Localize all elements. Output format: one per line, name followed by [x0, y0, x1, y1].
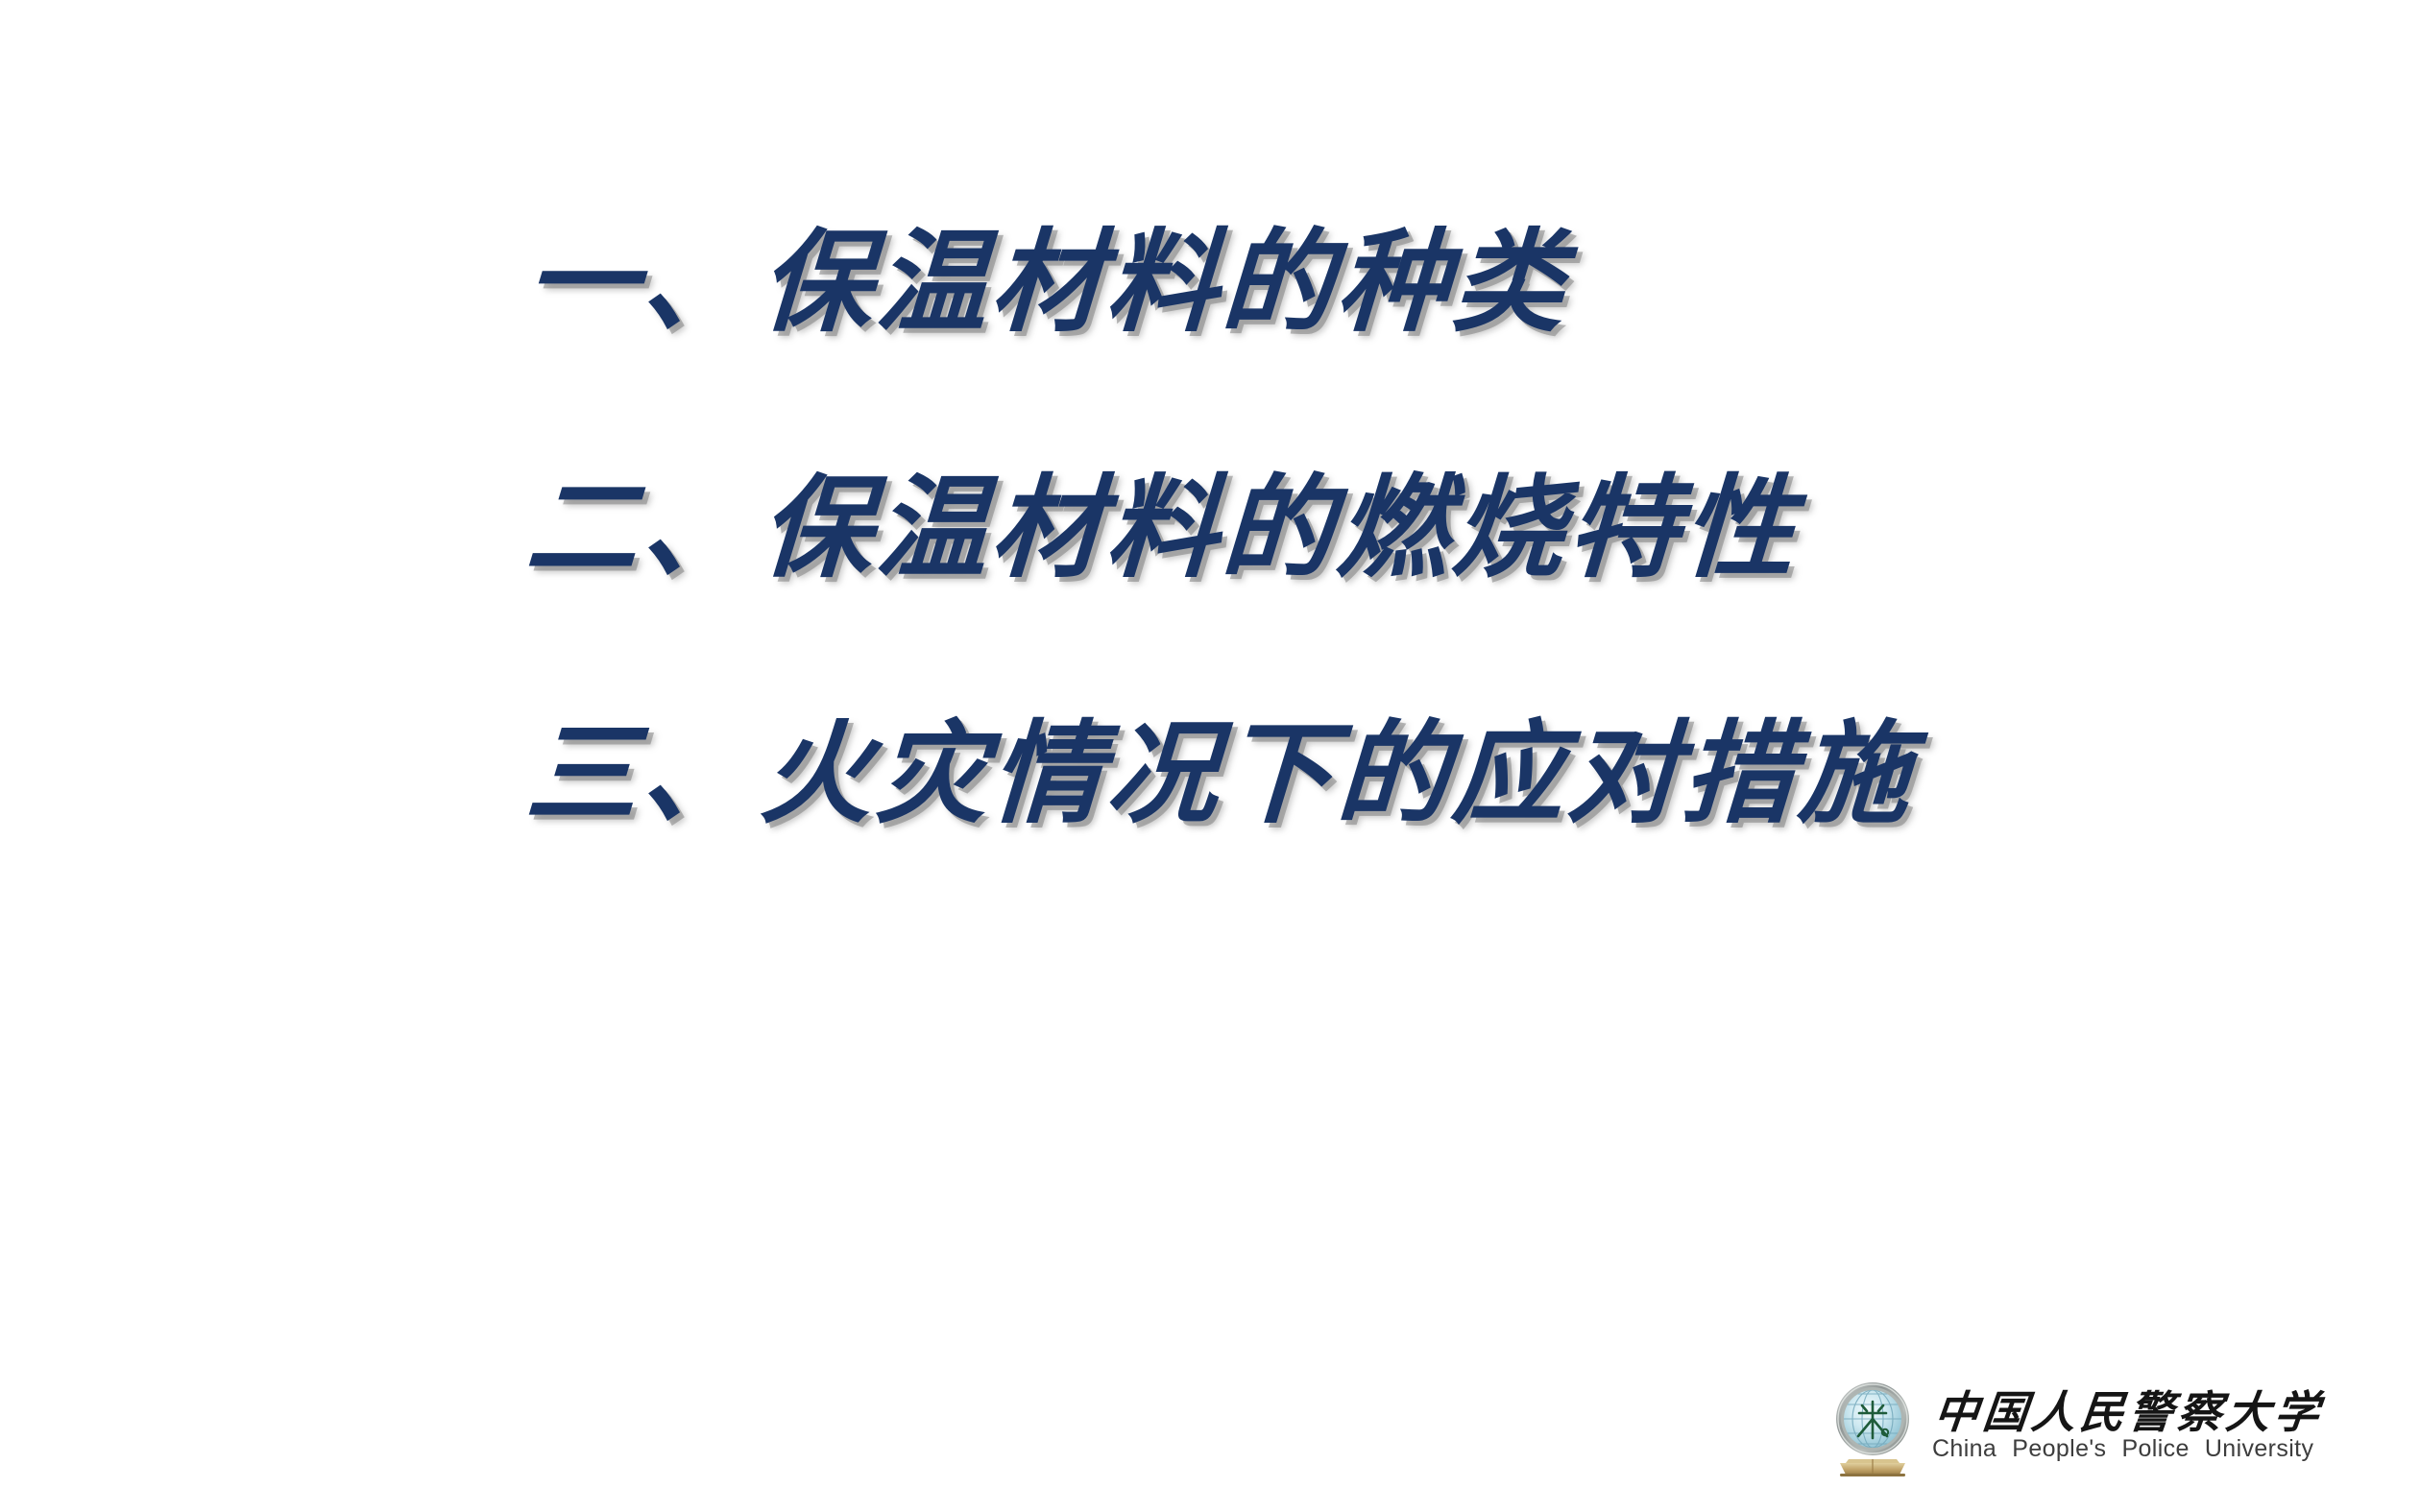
- agenda-item-2-label: 保温材料的燃烧特性: [758, 472, 1802, 584]
- agenda-item-1: 一、保温材料的种类: [523, 227, 2162, 338]
- agenda-item-1-number: 一、: [523, 227, 760, 338]
- agenda-item-3: 三、火灾情况下的应对措施: [523, 718, 2162, 829]
- agenda-list: 一、保温材料的种类 二、保温材料的燃烧特性 三、火灾情况下的应对措施: [526, 227, 2159, 829]
- agenda-item-1-label: 保温材料的种类: [758, 227, 1571, 338]
- logo-name-en: China People's Police University: [1932, 1436, 2321, 1463]
- logo-wordmark: 中国人民警察大学 China People's Police Universit…: [1932, 1390, 2321, 1463]
- university-logo: 中国人民警察大学 China People's Police Universit…: [1827, 1375, 2321, 1478]
- agenda-item-3-label: 火灾情况下的应对措施: [758, 718, 1917, 829]
- slide-canvas: 一、保温材料的种类 二、保温材料的燃烧特性 三、火灾情况下的应对措施: [0, 0, 2420, 1512]
- agenda-item-2-number: 二、: [523, 472, 760, 584]
- agenda-item-3-number: 三、: [523, 718, 760, 829]
- police-university-globe-emblem-icon: [1827, 1375, 1919, 1478]
- agenda-item-2: 二、保温材料的燃烧特性: [523, 472, 2162, 584]
- logo-name-cn: 中国人民警察大学: [1932, 1390, 2326, 1434]
